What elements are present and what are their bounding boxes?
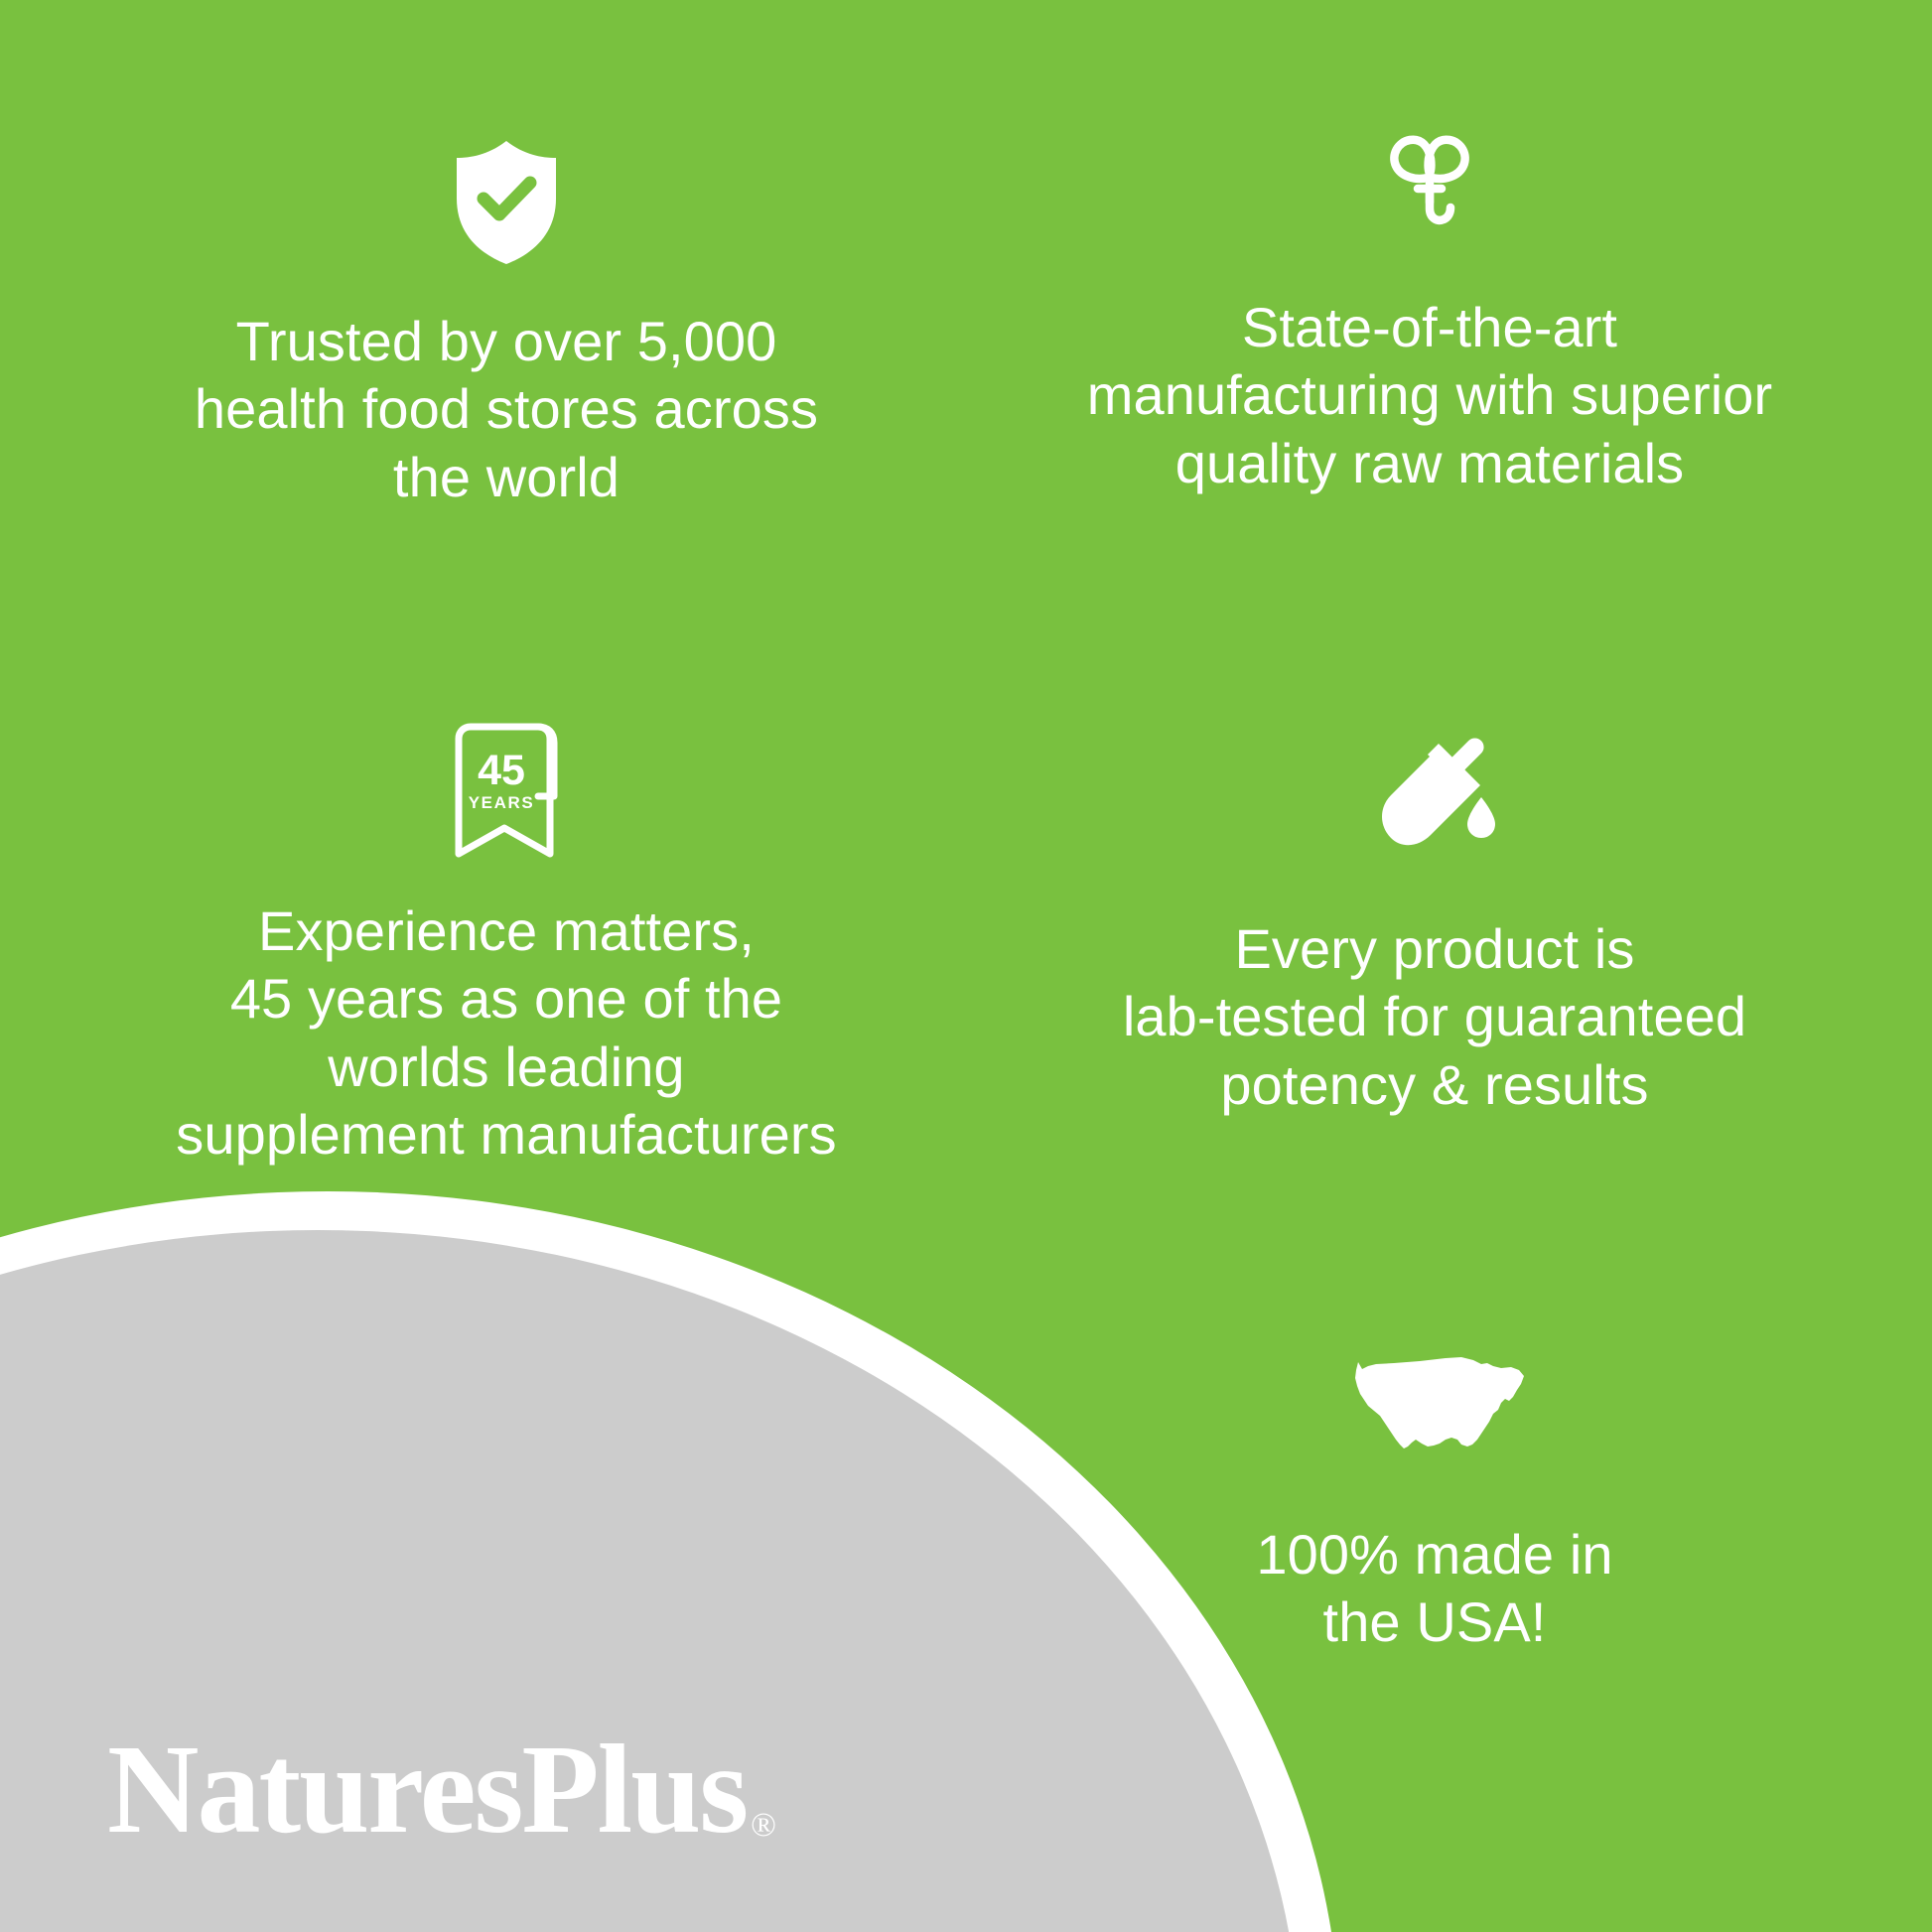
sprout-plant-icon	[1370, 117, 1489, 236]
feature-experience-text: Experience matters, 45 years as one of t…	[176, 897, 836, 1169]
ribbon-unit: YEARS	[469, 793, 535, 812]
feature-experience: 45 YEARS Experience matters, 45 years as…	[89, 723, 923, 1169]
feature-manufacturing-text: State-of-the-art manufacturing with supe…	[1087, 294, 1773, 497]
test-tube-droplet-icon	[1369, 735, 1500, 860]
promo-infographic: Trusted by over 5,000 health food stores…	[0, 0, 1932, 1932]
usa-map-icon	[1342, 1348, 1527, 1459]
feature-trusted: Trusted by over 5,000 health food stores…	[119, 139, 894, 511]
feature-trusted-text: Trusted by over 5,000 health food stores…	[195, 308, 818, 511]
brand-logo: NaturesPlus ®	[107, 1725, 776, 1853]
feature-usa: 100% made in the USA!	[1003, 1348, 1866, 1657]
feature-labtested: Every product is lab-tested for guarante…	[1003, 735, 1866, 1119]
45-years-ribbon-icon: 45 YEARS	[443, 723, 570, 858]
feature-labtested-text: Every product is lab-tested for guarante…	[1123, 915, 1746, 1119]
feature-manufacturing: State-of-the-art manufacturing with supe…	[993, 117, 1866, 497]
registered-trademark-icon: ®	[747, 1809, 776, 1853]
ribbon-number: 45	[478, 747, 525, 794]
shield-check-icon	[451, 139, 562, 266]
feature-usa-text: 100% made in the USA!	[1256, 1521, 1612, 1657]
brand-logo-wordmark: NaturesPlus	[107, 1725, 747, 1853]
